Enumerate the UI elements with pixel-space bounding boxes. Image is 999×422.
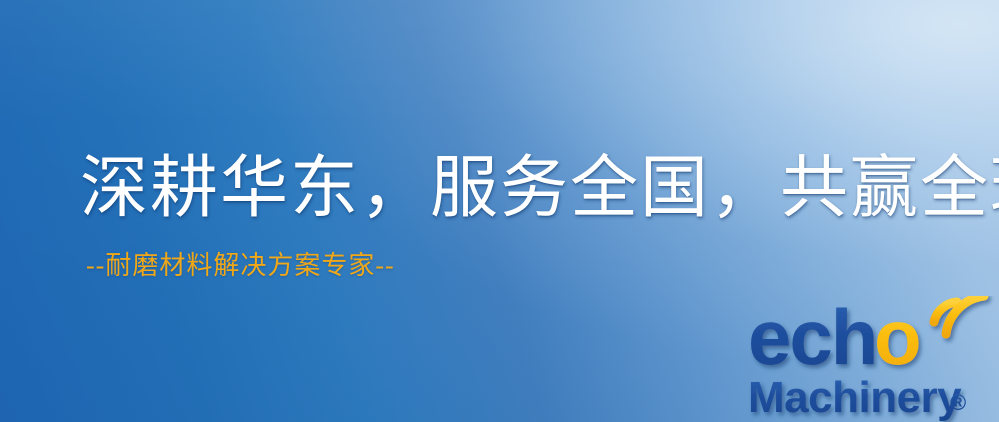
logo-machinery-text: Machinery: [748, 373, 962, 422]
logo-echo-gold-o: o: [874, 296, 922, 381]
signal-arc-icon: [934, 296, 984, 334]
company-logo[interactable]: ech o Machinery ®: [748, 296, 999, 422]
hero-banner: 深耕华东，服务全国，共赢全球 --耐磨材料解决方案专家--: [0, 0, 999, 422]
banner-subtitle: --耐磨材料解决方案专家--: [86, 250, 950, 282]
logo-echo-blue: ech: [748, 296, 876, 381]
registered-trademark-icon: ®: [950, 390, 966, 415]
banner-headline: 深耕华东，服务全国，共赢全球: [80, 142, 950, 234]
banner-text-block: 深耕华东，服务全国，共赢全球 --耐磨材料解决方案专家--: [80, 142, 950, 282]
